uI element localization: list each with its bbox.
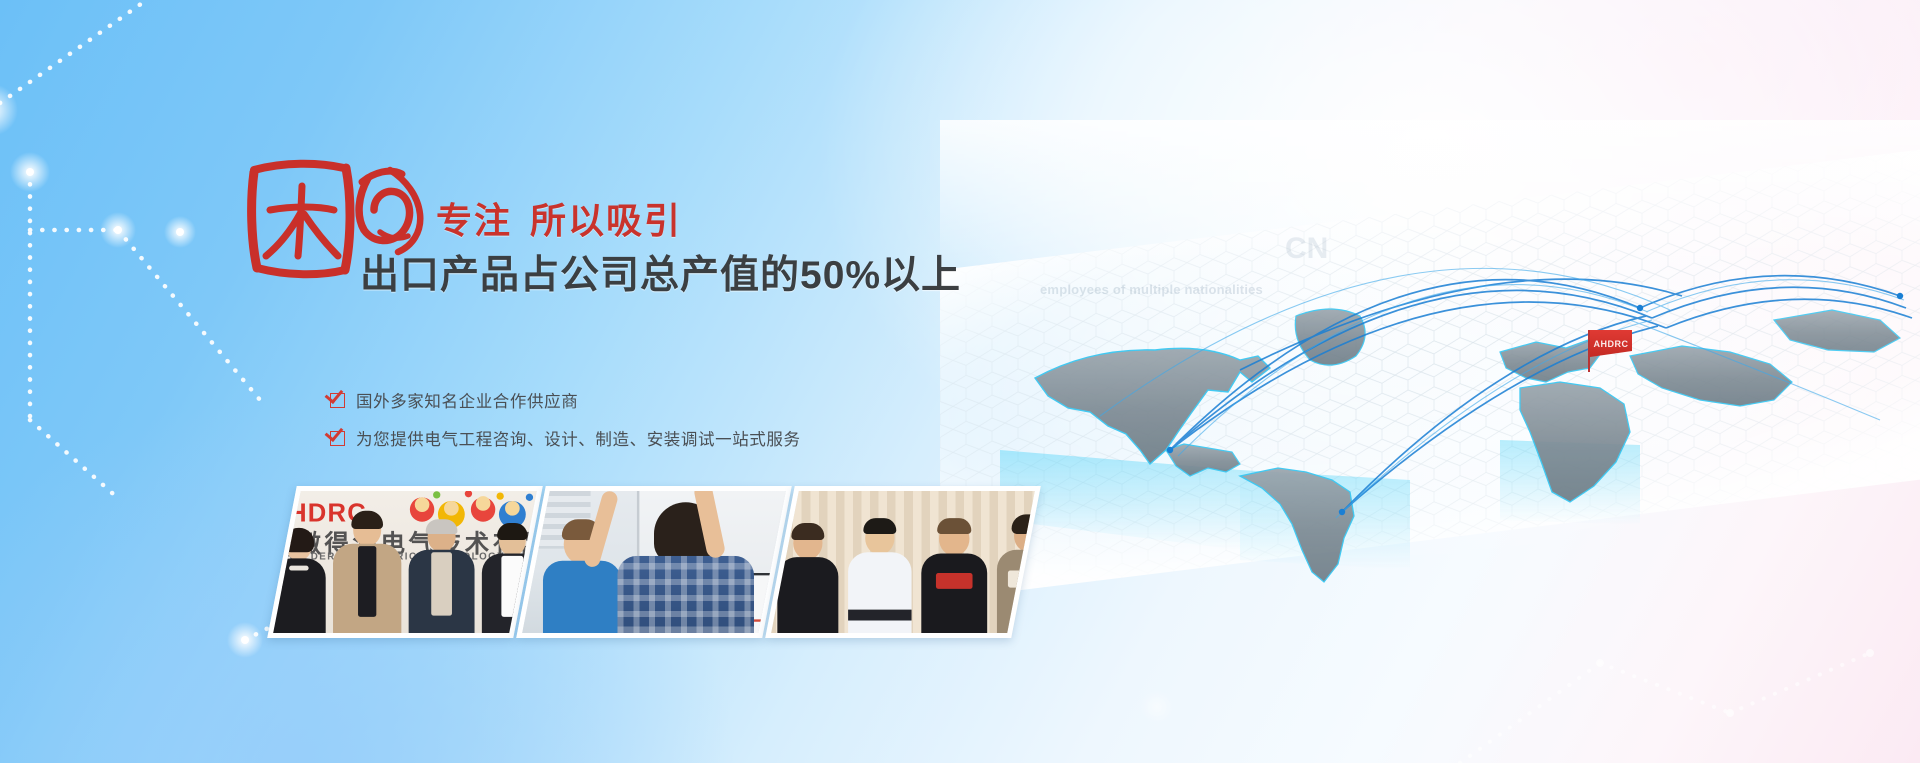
world-map-graphic	[940, 120, 1920, 590]
decorative-dot-network-right	[1400, 463, 1920, 763]
photo-engineers-cabinet[interactable]	[516, 486, 792, 638]
bullet-item: 为您提供电气工程咨询、设计、制造、安装调试一站式服务	[330, 426, 801, 450]
flag-pole	[1588, 330, 1590, 372]
check-box-icon	[330, 431, 345, 446]
map-flag-marker: AHDRC	[1588, 330, 1632, 372]
bullet-item: 国外多家知名企业合作供应商	[330, 388, 801, 412]
check-box-icon	[330, 393, 345, 408]
bullet-label: 国外多家知名企业合作供应商	[356, 388, 578, 412]
decorative-dot-network-left	[0, 0, 560, 763]
headline-dark-line: 出口产品占公司总产值的50%以上	[360, 244, 961, 300]
headline-red-part2: 所以吸引	[530, 200, 682, 241]
headline-block: 专注所以吸引 出口产品占公司总产值的50%以上	[240, 152, 1000, 282]
photo-delegation[interactable]: AHDRC 安徽得润电气技术有限公司 ANHUI DERUN ELECTRIC …	[267, 486, 543, 638]
headline-red-line: 专注所以吸引	[436, 192, 682, 244]
headline-row: 专注所以吸引 出口产品占公司总产值的50%以上	[240, 152, 1000, 282]
bullet-label: 为您提供电气工程咨询、设计、制造、安装调试一站式服务	[356, 426, 801, 450]
photo-team-outdoor[interactable]	[765, 486, 1041, 638]
map-watermark-en: employees of multiple nationalities	[1040, 282, 1263, 297]
hero-banner: AHDRC CN employees of multiple nationali…	[0, 0, 1920, 763]
map-watermark-cn: CN	[1285, 232, 1328, 266]
photo-strip: AHDRC 安徽得润电气技术有限公司 ANHUI DERUN ELECTRIC …	[282, 486, 1029, 638]
flag-label: AHDRC	[1594, 339, 1629, 349]
headline-red-part1: 专注	[436, 200, 512, 241]
glow-dot	[1140, 690, 1174, 724]
flag-cloth: AHDRC	[1590, 330, 1632, 357]
feature-bullet-list: 国外多家知名企业合作供应商 为您提供电气工程咨询、设计、制造、安装调试一站式服务	[330, 388, 801, 464]
